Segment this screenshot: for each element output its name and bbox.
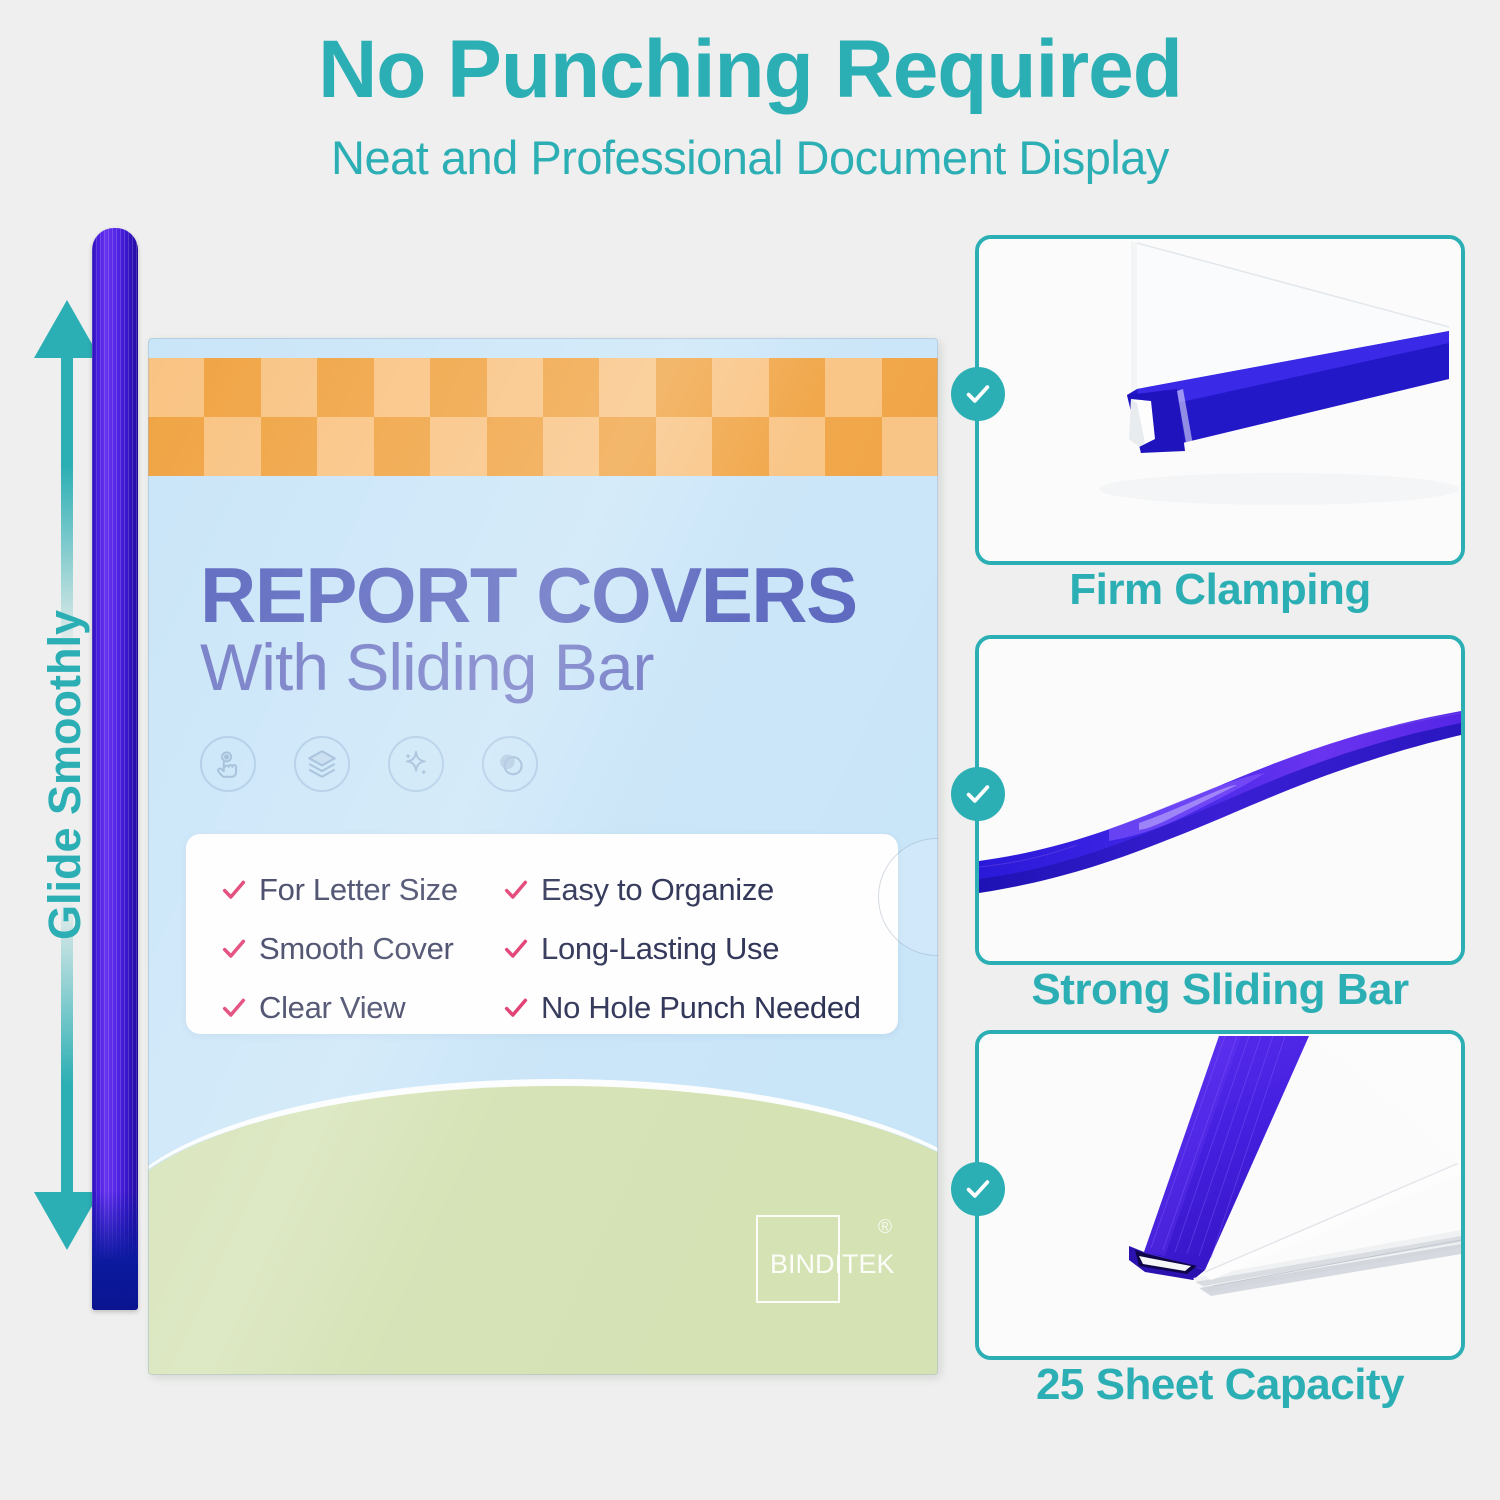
checker-cell	[656, 358, 712, 417]
feature-checklist-box: For Letter Size Easy to Organize Smooth …	[186, 834, 898, 1034]
feature-label: No Hole Punch Needed	[541, 990, 861, 1026]
checker-cell	[317, 358, 373, 417]
check-mark-icon	[502, 935, 530, 963]
sparkle-shine-icon	[388, 736, 444, 792]
checker-cell	[769, 358, 825, 417]
feature-item: Smooth Cover	[220, 919, 502, 978]
check-mark-icon	[502, 994, 530, 1022]
sliding-bar-spine	[92, 228, 138, 1310]
check-circle-icon	[951, 367, 1005, 421]
brand-name: BINDITEK	[770, 1249, 895, 1280]
check-mark-icon	[502, 876, 530, 904]
feature-label: Smooth Cover	[259, 931, 454, 967]
checkerboard-band	[148, 358, 938, 476]
feature-label: Easy to Organize	[541, 872, 774, 908]
check-circle-icon	[951, 767, 1005, 821]
overlapping-circles-icon	[482, 736, 538, 792]
touch-hand-icon	[200, 736, 256, 792]
product-title: REPORT COVERS	[200, 556, 857, 634]
brand-logo: BINDITEK ®	[756, 1215, 894, 1303]
feature-panel-strong-sliding-bar	[975, 635, 1465, 965]
checker-cell	[712, 417, 768, 476]
panel-caption: 25 Sheet Capacity	[975, 1360, 1465, 1410]
feature-panel-firm-clamping	[975, 235, 1465, 565]
page-headline: No Punching Required	[0, 28, 1500, 112]
arrow-shaft-upper	[61, 352, 73, 652]
arrow-shaft-lower	[61, 898, 73, 1198]
product-subtitle: With Sliding Bar	[200, 634, 654, 700]
registered-mark-icon: ®	[878, 1217, 892, 1239]
checker-cell	[148, 417, 204, 476]
checker-cell	[317, 417, 373, 476]
firm-clamping-photo	[979, 239, 1461, 561]
feature-item: Clear View	[220, 978, 502, 1037]
checker-cell	[204, 358, 260, 417]
checker-cell	[882, 417, 938, 476]
feature-label: Long-Lasting Use	[541, 931, 779, 967]
check-mark-icon	[220, 935, 248, 963]
feature-label: For Letter Size	[259, 872, 458, 908]
checker-cell	[430, 358, 486, 417]
checker-cell	[430, 417, 486, 476]
checker-cell	[656, 417, 712, 476]
checker-cell	[374, 417, 430, 476]
sheet-capacity-photo	[979, 1034, 1461, 1356]
feature-item: For Letter Size	[220, 860, 502, 919]
header-banner: No Punching Required Neat and Profession…	[0, 0, 1500, 225]
arrow-down-head-icon	[34, 1192, 100, 1250]
checker-cell	[261, 358, 317, 417]
checker-cell	[712, 358, 768, 417]
panel-caption: Firm Clamping	[975, 565, 1465, 615]
feature-item: Easy to Organize	[502, 860, 864, 919]
feature-panel-sheet-capacity	[975, 1030, 1465, 1360]
feature-item: No Hole Punch Needed	[502, 978, 864, 1037]
check-circle-icon	[951, 1162, 1005, 1216]
checker-cell	[825, 417, 881, 476]
checker-cell	[204, 417, 260, 476]
panel-caption: Strong Sliding Bar	[975, 965, 1465, 1015]
checker-cell	[148, 358, 204, 417]
checker-cell	[487, 417, 543, 476]
checker-cell	[543, 417, 599, 476]
checker-cell	[599, 358, 655, 417]
feature-label: Clear View	[259, 990, 405, 1026]
glide-smoothly-label: Glide Smoothly	[39, 610, 91, 940]
checker-cell	[374, 358, 430, 417]
check-mark-icon	[220, 876, 248, 904]
page-subheadline: Neat and Professional Document Display	[0, 130, 1500, 185]
check-mark-icon	[220, 994, 248, 1022]
checker-cell	[825, 358, 881, 417]
checker-cell	[769, 417, 825, 476]
layers-stack-icon	[294, 736, 350, 792]
checker-cell	[599, 417, 655, 476]
report-cover-product: REPORT COVERS With Sliding Bar	[148, 338, 938, 1375]
checker-cell	[882, 358, 938, 417]
checker-cell	[261, 417, 317, 476]
arrow-up-head-icon	[34, 300, 100, 358]
feature-item: Long-Lasting Use	[502, 919, 864, 978]
checker-cell	[543, 358, 599, 417]
checker-cell	[487, 358, 543, 417]
feature-icon-row	[200, 736, 538, 792]
strong-sliding-bar-photo	[979, 639, 1461, 961]
